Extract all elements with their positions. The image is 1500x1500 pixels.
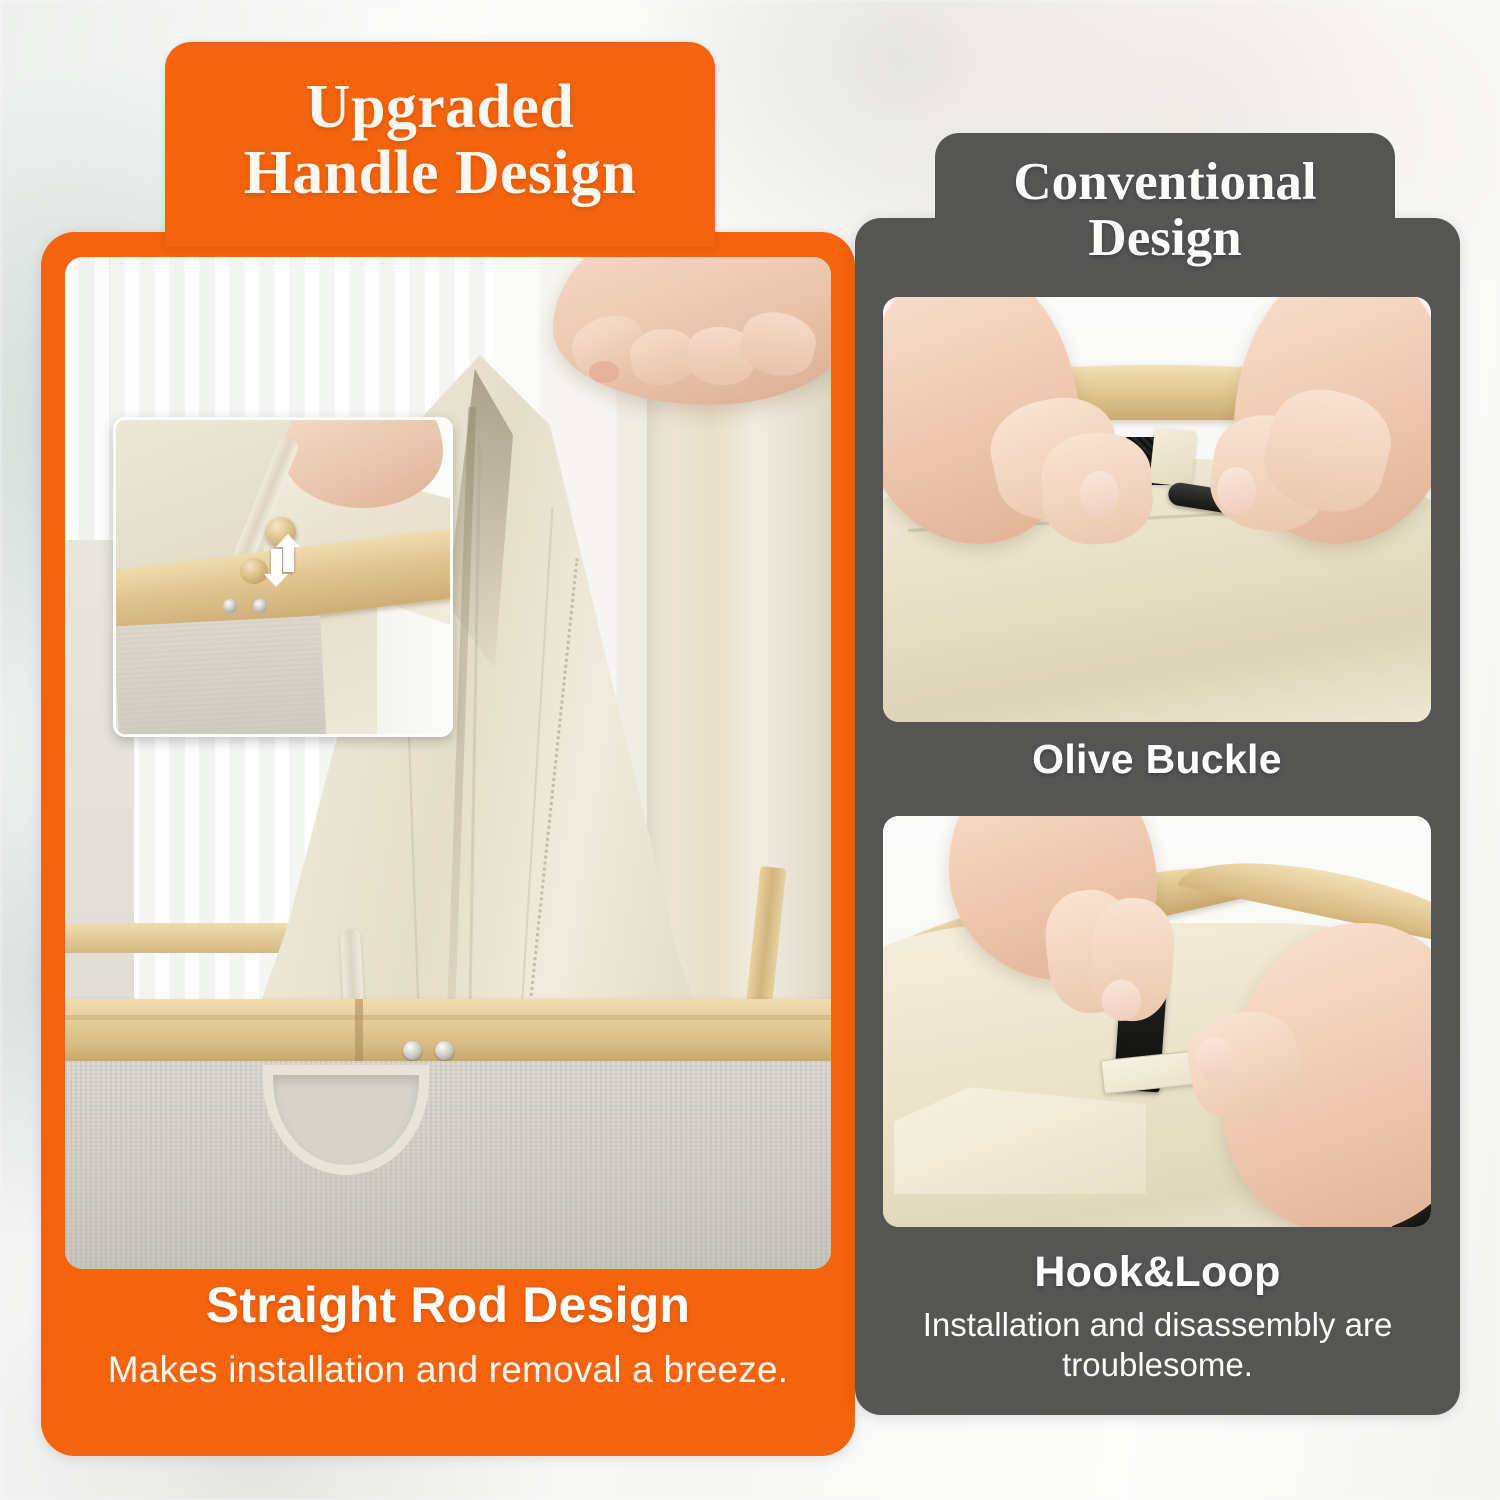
upgraded-header-line2: Handle Design <box>244 141 637 207</box>
inset-floor <box>113 615 326 737</box>
arrow-up-icon <box>283 546 294 572</box>
fingernail <box>1195 1038 1233 1079</box>
olive-buckle-caption: Olive Buckle <box>883 736 1431 783</box>
upgraded-design-header-tab: Upgraded Handle Design <box>165 42 715 247</box>
screw-icon <box>435 1041 454 1060</box>
hook-and-loop-caption: Hook&Loop Installation and disassembly a… <box>875 1248 1440 1384</box>
arrow-down-icon <box>271 549 282 575</box>
hook-and-loop-subtitle: Installation and disassembly are trouble… <box>875 1305 1440 1384</box>
upgraded-caption-title: Straight Rod Design <box>48 1278 848 1333</box>
linen-basket-body <box>65 1061 831 1269</box>
upgraded-handle-photo <box>65 257 831 1269</box>
conventional-header-line2: Design <box>1088 211 1241 267</box>
rod-installation-inset-photo <box>113 417 453 737</box>
fingernail <box>589 361 619 383</box>
conventional-design-header-tab: Conventional Design <box>935 133 1395 293</box>
upgraded-caption-subtitle: Makes installation and removal a breeze. <box>48 1349 848 1391</box>
olive-buckle-tab <box>1149 427 1197 487</box>
hook-and-loop-title: Hook&Loop <box>875 1248 1440 1297</box>
fingernail <box>1080 471 1118 518</box>
olive-buckle-photo <box>883 297 1431 722</box>
hook-and-loop-photo <box>883 816 1431 1227</box>
screw-icon <box>253 599 267 613</box>
upgraded-header-line1: Upgraded <box>306 75 574 141</box>
fingernail <box>1217 467 1255 514</box>
conventional-header-line1: Conventional <box>1013 155 1316 211</box>
upgraded-caption: Straight Rod Design Makes installation a… <box>48 1278 848 1391</box>
screw-icon <box>403 1041 422 1060</box>
rail-joint <box>355 999 363 1061</box>
screw-icon <box>223 599 237 613</box>
fingernail <box>1102 980 1140 1021</box>
